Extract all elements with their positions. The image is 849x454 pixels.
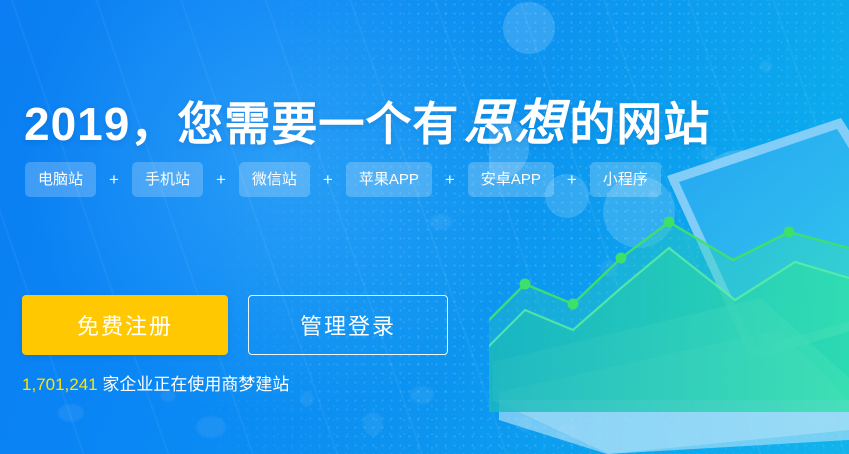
plus-separator-icon: +: [96, 170, 132, 190]
usage-counter: 1,701,241 家企业正在使用商梦建站: [22, 370, 289, 395]
cta-button-group: 免费注册 管理登录: [22, 295, 448, 355]
free-register-button[interactable]: 免费注册: [22, 295, 228, 355]
headline-brush-word: 思想: [459, 93, 569, 152]
page-title: 2019，您需要一个有思想的网站: [24, 83, 710, 155]
admin-login-button[interactable]: 管理登录: [248, 295, 448, 355]
tag-pc-site[interactable]: 电脑站: [25, 162, 96, 197]
plus-separator-icon: +: [203, 170, 239, 190]
usage-counter-suffix: 家企业正在使用商梦建站: [98, 375, 290, 394]
plus-separator-icon: +: [554, 170, 590, 190]
tag-android-app[interactable]: 安卓APP: [468, 162, 554, 197]
tag-mobile-site[interactable]: 手机站: [132, 162, 203, 197]
plus-separator-icon: +: [432, 170, 468, 190]
hero-banner: 2019，您需要一个有思想的网站 电脑站 + 手机站 + 微信站 + 苹果APP…: [0, 0, 849, 454]
tag-mini-program[interactable]: 小程序: [590, 162, 661, 197]
headline-suffix: 的网站: [569, 98, 710, 150]
plus-separator-icon: +: [310, 170, 346, 190]
tag-wechat-site[interactable]: 微信站: [239, 162, 310, 197]
service-tag-list: 电脑站 + 手机站 + 微信站 + 苹果APP + 安卓APP + 小程序: [25, 162, 661, 197]
banner-content: 2019，您需要一个有思想的网站 电脑站 + 手机站 + 微信站 + 苹果APP…: [0, 0, 849, 454]
headline-prefix: 2019，您需要一个有: [24, 98, 459, 150]
usage-counter-number: 1,701,241: [22, 375, 98, 394]
tag-ios-app[interactable]: 苹果APP: [346, 162, 432, 197]
